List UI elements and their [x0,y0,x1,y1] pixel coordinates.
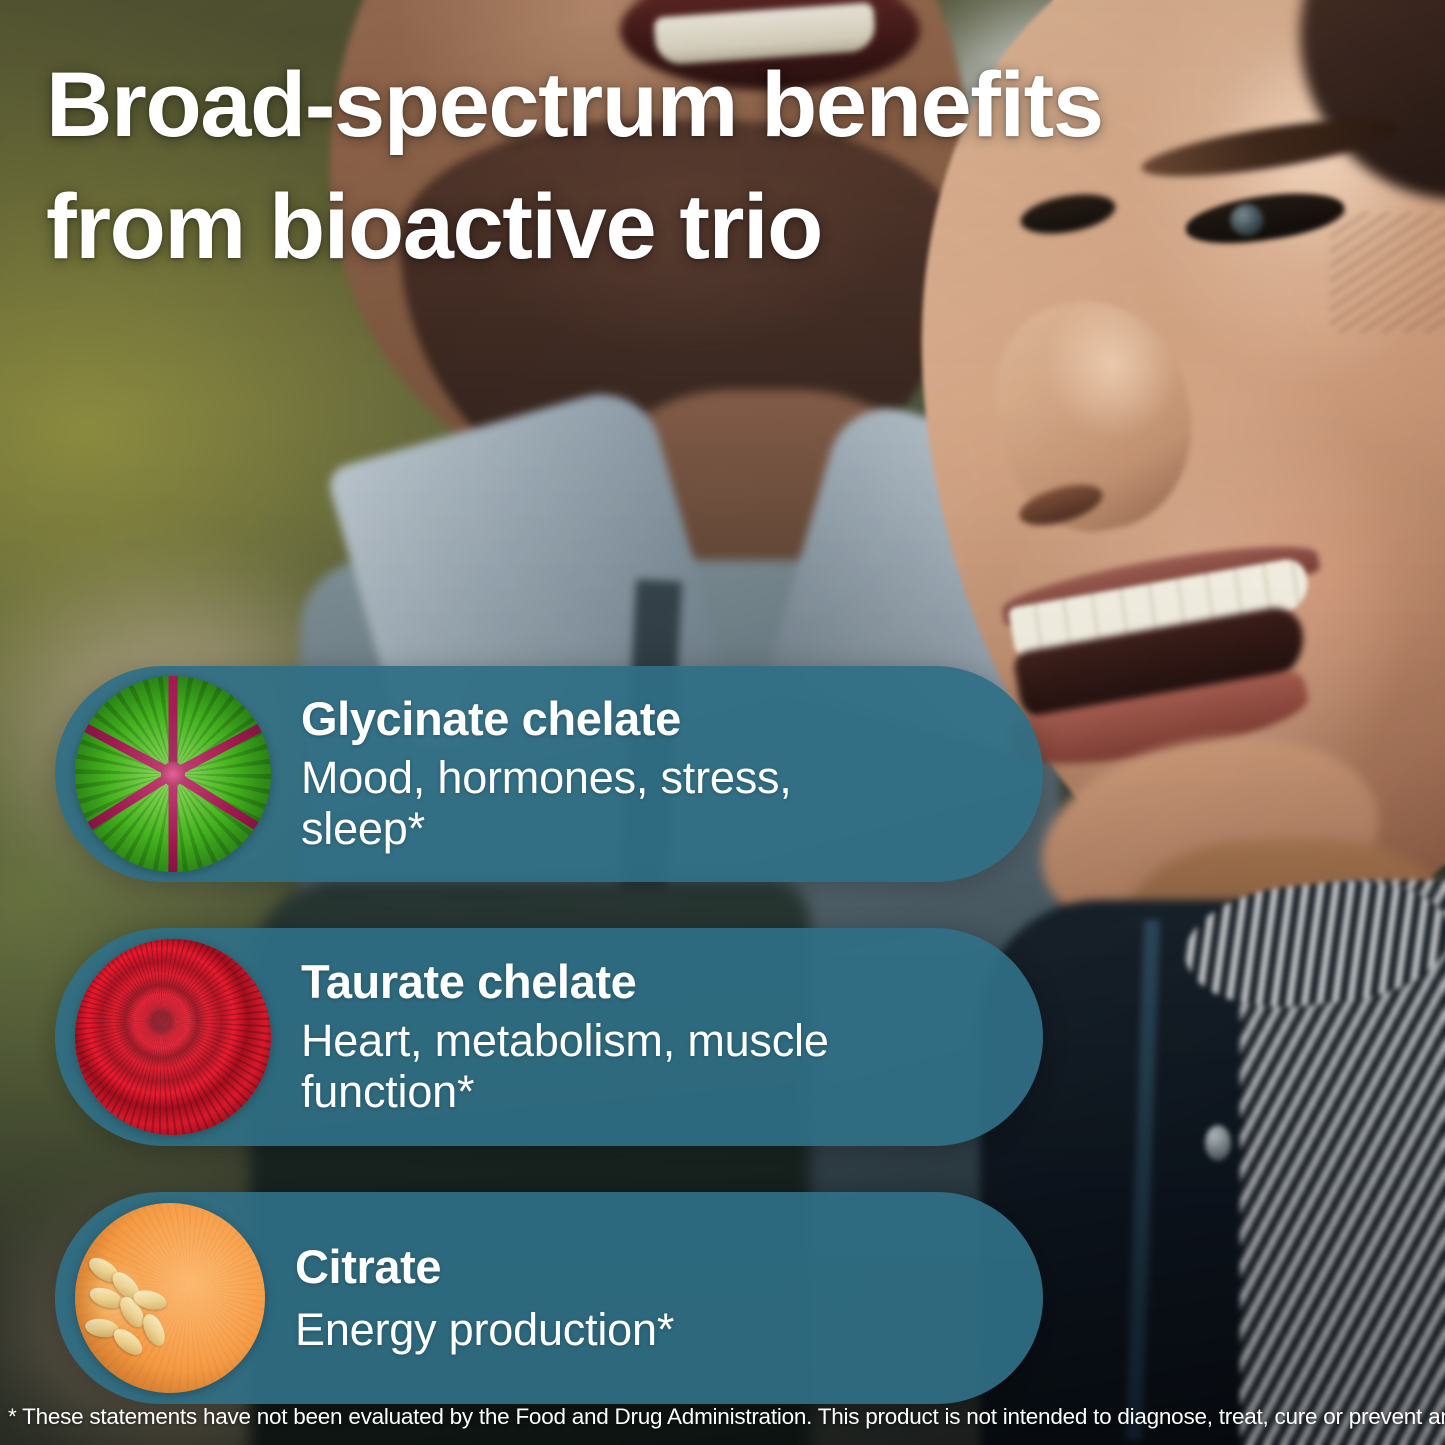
squash-shading [75,1203,265,1393]
benefit-text-block: Citrate Energy production* [295,1241,698,1355]
benefit-pill-citrate[interactable]: Citrate Energy production* [55,1192,1043,1404]
benefit-text-block: Taurate chelate Heart, metabolism, muscl… [301,956,853,1117]
beet-image [75,939,271,1135]
benefit-description: Heart, metabolism, muscle function* [301,1015,829,1118]
benefit-title: Taurate chelate [301,956,829,1009]
orange-squash-slice-icon [75,1203,265,1393]
squash-image [75,1203,265,1393]
benefit-description: Energy production* [295,1304,674,1355]
beet-shading [75,939,271,1135]
benefit-text-block: Glycinate chelate Mood, hormones, stress… [301,693,816,854]
red-beet-slice-icon [75,939,271,1135]
benefit-title: Citrate [295,1241,674,1294]
benefit-title: Glycinate chelate [301,693,792,746]
leaf-shading [75,676,271,872]
benefit-pill-taurate-chelate[interactable]: Taurate chelate Heart, metabolism, muscl… [55,928,1043,1146]
infographic-canvas: Broad-spectrum benefits from bioactive t… [0,0,1445,1445]
green-chard-leaf-icon [75,676,271,872]
leaf-image [75,676,271,872]
benefit-list: Glycinate chelate Mood, hormones, stress… [0,0,1445,1445]
fda-disclaimer: * These statements have not been evaluat… [8,1403,1445,1431]
benefit-pill-glycinate-chelate[interactable]: Glycinate chelate Mood, hormones, stress… [55,666,1043,882]
benefit-description: Mood, hormones, stress, sleep* [301,752,792,855]
